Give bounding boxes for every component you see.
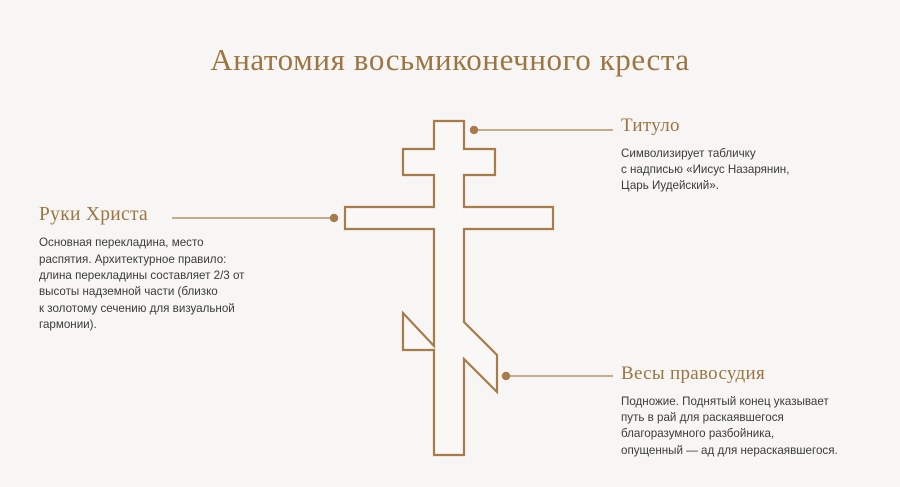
connector-dot-titulo	[470, 126, 478, 134]
connector-dot-scales	[502, 372, 510, 380]
annotation-hands-body: Основная перекладина, место распятия. Ар…	[39, 235, 299, 333]
connector-scales	[502, 372, 613, 380]
diagram-canvas: Анатомия восьмиконечного креста Титуло С…	[0, 0, 900, 487]
connector-titulo	[470, 126, 613, 134]
annotation-titulo: Титуло Символизирует табличку с надписью…	[621, 116, 879, 195]
annotation-scales-body: Подножие. Поднятый конец указывает путь …	[621, 394, 883, 459]
annotation-scales: Весы правосудия Подножие. Поднятый конец…	[621, 364, 883, 459]
annotation-scales-heading: Весы правосудия	[621, 364, 883, 385]
annotation-hands-heading: Руки Христа	[39, 204, 299, 225]
annotation-titulo-body: Символизирует табличку с надписью «Иисус…	[621, 146, 879, 195]
connector-dot-hands	[330, 214, 338, 222]
annotation-titulo-heading: Титуло	[621, 116, 879, 137]
cross-shape	[345, 121, 553, 455]
annotation-hands: Руки Христа Основная перекладина, место …	[39, 204, 299, 333]
